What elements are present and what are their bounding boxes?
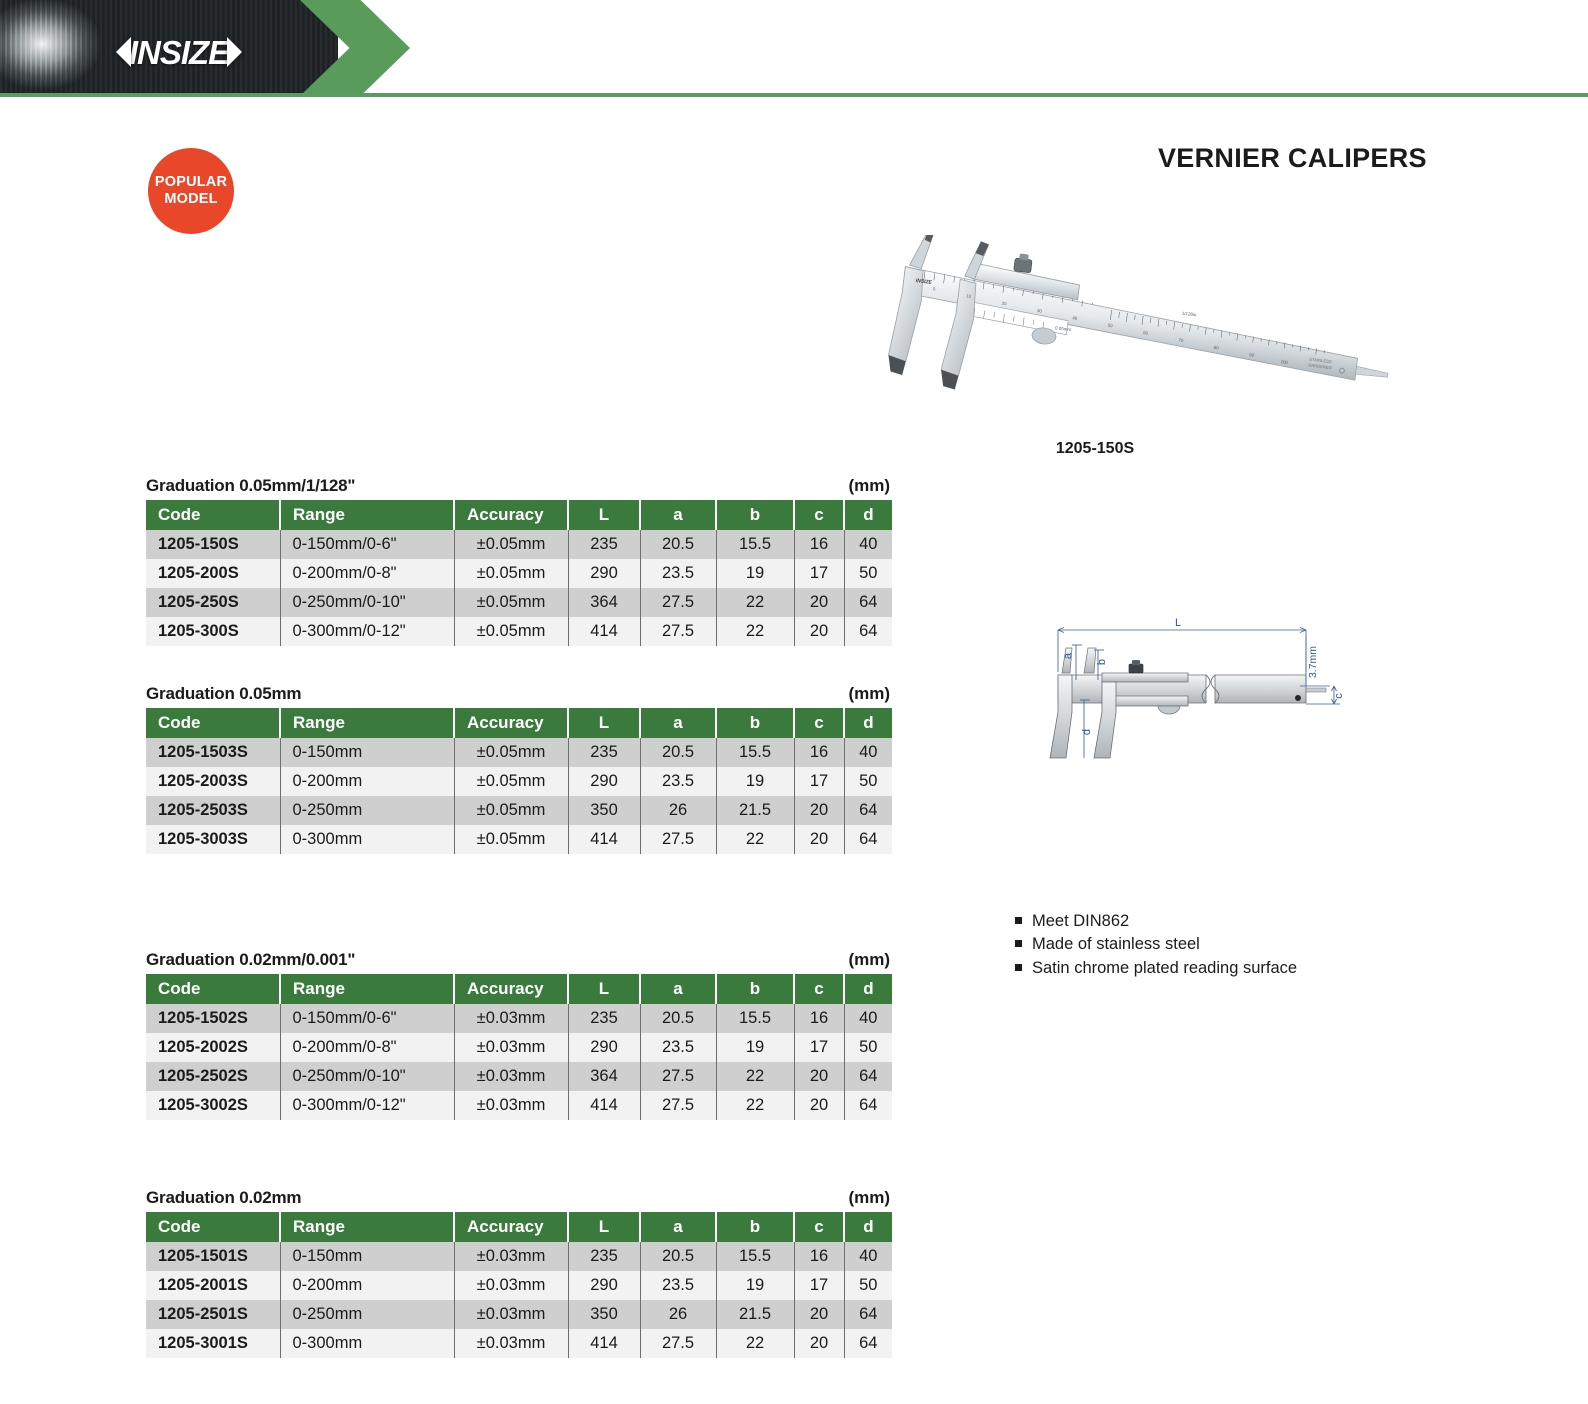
table-caption-row: Graduation 0.02mm (mm) — [146, 1188, 892, 1208]
cell-c: 16 — [794, 1004, 844, 1033]
cell-code: 1205-2502S — [146, 1062, 280, 1091]
cell-l: 414 — [568, 1329, 640, 1358]
cell-b: 15.5 — [716, 1242, 794, 1271]
cell-range: 0-300mm/0-12" — [280, 1091, 454, 1120]
col-header-accuracy: Accuracy — [454, 708, 568, 738]
cell-range: 0-150mm/0-6" — [280, 1004, 454, 1033]
square-bullet-icon — [1015, 940, 1022, 947]
cell-a: 27.5 — [640, 1062, 716, 1091]
cell-accuracy: ±0.03mm — [454, 1300, 568, 1329]
cell-b: 22 — [716, 617, 794, 646]
cell-l: 290 — [568, 1033, 640, 1062]
dim-label-d: d — [1081, 729, 1093, 735]
col-header-b: b — [716, 1212, 794, 1242]
svg-text:100: 100 — [1280, 359, 1288, 365]
cell-accuracy: ±0.05mm — [454, 588, 568, 617]
cell-code: 1205-1501S — [146, 1242, 280, 1271]
cell-code: 1205-150S — [146, 530, 280, 559]
col-header-code: Code — [146, 974, 280, 1004]
table-caption-row: Graduation 0.05mm/1/128" (mm) — [146, 476, 892, 496]
col-header-code: Code — [146, 1212, 280, 1242]
cell-d: 64 — [844, 617, 892, 646]
cell-code: 1205-2501S — [146, 1300, 280, 1329]
table-caption-row: Graduation 0.05mm (mm) — [146, 684, 892, 704]
cell-range: 0-250mm/0-10" — [280, 588, 454, 617]
cell-range: 0-300mm — [280, 1329, 454, 1358]
col-header-d: d — [844, 500, 892, 530]
cell-accuracy: ±0.03mm — [454, 1033, 568, 1062]
cell-range: 0-200mm — [280, 767, 454, 796]
cell-code: 1205-2003S — [146, 767, 280, 796]
cell-c: 20 — [794, 796, 844, 825]
table-row: 1205-3001S 0-300mm ±0.03mm 414 27.5 22 2… — [146, 1329, 892, 1358]
col-header-b: b — [716, 708, 794, 738]
cell-d: 40 — [844, 530, 892, 559]
cell-c: 17 — [794, 1033, 844, 1062]
cell-l: 235 — [568, 1242, 640, 1271]
table-row: 1205-2502S 0-250mm/0-10" ±0.03mm 364 27.… — [146, 1062, 892, 1091]
cell-accuracy: ±0.03mm — [454, 1271, 568, 1300]
cell-l: 350 — [568, 796, 640, 825]
table-unit-label: (mm) — [848, 1188, 890, 1208]
cell-l: 235 — [568, 738, 640, 767]
cell-a: 27.5 — [640, 617, 716, 646]
table-caption: Graduation 0.02mm/0.001" — [146, 950, 355, 970]
table-caption-row: Graduation 0.02mm/0.001" (mm) — [146, 950, 892, 970]
cell-code: 1205-250S — [146, 588, 280, 617]
dimension-diagram: L a b d c 3.7mm — [1010, 600, 1350, 760]
cell-a: 20.5 — [640, 1242, 716, 1271]
feature-list-item: Made of stainless steel — [1015, 933, 1445, 956]
cell-a: 20.5 — [640, 1004, 716, 1033]
page-title: VERNIER CALIPERS — [1158, 143, 1427, 174]
cell-d: 50 — [844, 1271, 892, 1300]
cell-range: 0-150mm — [280, 1242, 454, 1271]
table-header-row: Code Range Accuracy L a b c d — [146, 974, 892, 1004]
cell-d: 50 — [844, 767, 892, 796]
cell-d: 64 — [844, 825, 892, 854]
table-caption: Graduation 0.02mm — [146, 1188, 301, 1208]
cell-d: 64 — [844, 1062, 892, 1091]
cell-l: 290 — [568, 1271, 640, 1300]
table-row: 1205-1502S 0-150mm/0-6" ±0.03mm 235 20.5… — [146, 1004, 892, 1033]
col-header-range: Range — [280, 974, 454, 1004]
table-row: 1205-300S 0-300mm/0-12" ±0.05mm 414 27.5… — [146, 617, 892, 646]
spec-table-block-4: Graduation 0.02mm (mm) Code Range Accura… — [146, 1188, 892, 1358]
col-header-range: Range — [280, 708, 454, 738]
spec-table: Code Range Accuracy L a b c d 1205-1503S… — [146, 708, 892, 854]
cell-a: 23.5 — [640, 1033, 716, 1062]
spec-table-block-3: Graduation 0.02mm/0.001" (mm) Code Range… — [146, 950, 892, 1120]
table-caption: Graduation 0.05mm — [146, 684, 301, 704]
caliper-dimension-diagram-icon: L a b d c 3.7mm — [1010, 600, 1350, 760]
cell-d: 64 — [844, 1091, 892, 1120]
spec-table: Code Range Accuracy L a b c d 1205-1501S… — [146, 1212, 892, 1358]
cell-code: 1205-3001S — [146, 1329, 280, 1358]
square-bullet-icon — [1015, 964, 1022, 971]
cell-c: 17 — [794, 1271, 844, 1300]
cell-code: 1205-2503S — [146, 796, 280, 825]
col-header-a: a — [640, 708, 716, 738]
cell-c: 20 — [794, 825, 844, 854]
cell-code: 1205-3003S — [146, 825, 280, 854]
cell-accuracy: ±0.05mm — [454, 738, 568, 767]
cell-c: 20 — [794, 588, 844, 617]
cell-a: 23.5 — [640, 1271, 716, 1300]
cell-range: 0-300mm — [280, 825, 454, 854]
col-header-code: Code — [146, 500, 280, 530]
cell-accuracy: ±0.03mm — [454, 1242, 568, 1271]
cell-c: 16 — [794, 530, 844, 559]
dim-label-a: a — [1062, 652, 1074, 659]
feature-text: Meet DIN862 — [1032, 910, 1129, 933]
cell-c: 17 — [794, 559, 844, 588]
cell-d: 64 — [844, 588, 892, 617]
cell-accuracy: ±0.05mm — [454, 825, 568, 854]
cell-d: 40 — [844, 1004, 892, 1033]
arrow-left-icon — [116, 37, 131, 67]
col-header-a: a — [640, 500, 716, 530]
cell-range: 0-200mm/0-8" — [280, 559, 454, 588]
cell-a: 20.5 — [640, 530, 716, 559]
table-caption: Graduation 0.05mm/1/128" — [146, 476, 355, 496]
cell-a: 23.5 — [640, 767, 716, 796]
cell-b: 22 — [716, 588, 794, 617]
cell-a: 26 — [640, 1300, 716, 1329]
cell-range: 0-250mm/0-10" — [280, 1062, 454, 1091]
table-row: 1205-3002S 0-300mm/0-12" ±0.03mm 414 27.… — [146, 1091, 892, 1120]
cell-code: 1205-1502S — [146, 1004, 280, 1033]
feature-list-item: Satin chrome plated reading surface — [1015, 957, 1445, 980]
cell-range: 0-250mm — [280, 796, 454, 825]
table-row: 1205-200S 0-200mm/0-8" ±0.05mm 290 23.5 … — [146, 559, 892, 588]
cell-accuracy: ±0.05mm — [454, 767, 568, 796]
cell-b: 19 — [716, 1271, 794, 1300]
table-row: 1205-150S 0-150mm/0-6" ±0.05mm 235 20.5 … — [146, 530, 892, 559]
col-header-d: d — [844, 974, 892, 1004]
cell-d: 50 — [844, 1033, 892, 1062]
col-header-range: Range — [280, 500, 454, 530]
cell-code: 1205-200S — [146, 559, 280, 588]
popular-model-badge: POPULAR MODEL — [148, 148, 234, 234]
cell-accuracy: ±0.05mm — [454, 559, 568, 588]
cell-a: 27.5 — [640, 1091, 716, 1120]
cell-l: 414 — [568, 617, 640, 646]
table-header-row: Code Range Accuracy L a b c d — [146, 708, 892, 738]
cell-code: 1205-300S — [146, 617, 280, 646]
spec-table: Code Range Accuracy L a b c d 1205-150S … — [146, 500, 892, 646]
cell-a: 26 — [640, 796, 716, 825]
table-unit-label: (mm) — [848, 476, 890, 496]
cell-b: 22 — [716, 1062, 794, 1091]
cell-l: 350 — [568, 1300, 640, 1329]
cell-range: 0-250mm — [280, 1300, 454, 1329]
cell-d: 50 — [844, 559, 892, 588]
cell-c: 20 — [794, 617, 844, 646]
col-header-code: Code — [146, 708, 280, 738]
cell-d: 64 — [844, 1329, 892, 1358]
svg-text:1/128in: 1/128in — [1181, 311, 1197, 318]
cell-b: 15.5 — [716, 1004, 794, 1033]
col-header-l: L — [568, 708, 640, 738]
vernier-caliper-photo-icon: INSIZE 1/128in 0.05mm STAINLESS HARDENED… — [860, 235, 1410, 410]
cell-a: 20.5 — [640, 738, 716, 767]
spec-table-block-2: Graduation 0.05mm (mm) Code Range Accura… — [146, 684, 892, 854]
cell-l: 364 — [568, 1062, 640, 1091]
feature-text: Made of stainless steel — [1032, 933, 1200, 956]
col-header-a: a — [640, 1212, 716, 1242]
col-header-l: L — [568, 1212, 640, 1242]
col-header-c: c — [794, 500, 844, 530]
cell-accuracy: ±0.05mm — [454, 617, 568, 646]
cell-range: 0-200mm — [280, 1271, 454, 1300]
cell-b: 21.5 — [716, 1300, 794, 1329]
cell-b: 22 — [716, 825, 794, 854]
cell-code: 1205-1503S — [146, 738, 280, 767]
table-row: 1205-2002S 0-200mm/0-8" ±0.03mm 290 23.5… — [146, 1033, 892, 1062]
cell-c: 16 — [794, 738, 844, 767]
spec-table: Code Range Accuracy L a b c d 1205-1502S… — [146, 974, 892, 1120]
cell-range: 0-150mm — [280, 738, 454, 767]
product-caption: 1205-150S — [970, 440, 1220, 458]
dim-label-b: b — [1096, 659, 1108, 665]
cell-accuracy: ±0.05mm — [454, 796, 568, 825]
dim-label-L: L — [1175, 617, 1181, 629]
feature-list: Meet DIN862 Made of stainless steel Sati… — [1015, 910, 1445, 980]
dim-label-c: c — [1333, 693, 1345, 699]
cell-b: 19 — [716, 767, 794, 796]
cell-code: 1205-3002S — [146, 1091, 280, 1120]
table-unit-label: (mm) — [848, 950, 890, 970]
product-photo: INSIZE 1/128in 0.05mm STAINLESS HARDENED… — [860, 235, 1410, 410]
table-row: 1205-250S 0-250mm/0-10" ±0.05mm 364 27.5… — [146, 588, 892, 617]
cell-b: 15.5 — [716, 738, 794, 767]
feature-text: Satin chrome plated reading surface — [1032, 957, 1297, 980]
table-row: 1205-2001S 0-200mm ±0.03mm 290 23.5 19 1… — [146, 1271, 892, 1300]
insize-logo-text: INSIZE — [129, 36, 229, 69]
cell-b: 15.5 — [716, 530, 794, 559]
popular-model-badge-line2: MODEL — [164, 191, 217, 208]
cell-range: 0-200mm/0-8" — [280, 1033, 454, 1062]
cell-accuracy: ±0.03mm — [454, 1062, 568, 1091]
col-header-c: c — [794, 708, 844, 738]
table-row: 1205-1503S 0-150mm ±0.05mm 235 20.5 15.5… — [146, 738, 892, 767]
cell-l: 235 — [568, 1004, 640, 1033]
popular-model-badge-line1: POPULAR — [155, 174, 227, 191]
cell-b: 22 — [716, 1329, 794, 1358]
table-row: 1205-1501S 0-150mm ±0.03mm 235 20.5 15.5… — [146, 1242, 892, 1271]
cell-accuracy: ±0.03mm — [454, 1091, 568, 1120]
col-header-accuracy: Accuracy — [454, 1212, 568, 1242]
table-header-row: Code Range Accuracy L a b c d — [146, 1212, 892, 1242]
cell-c: 16 — [794, 1242, 844, 1271]
cell-code: 1205-2001S — [146, 1271, 280, 1300]
col-header-l: L — [568, 974, 640, 1004]
table-header-row: Code Range Accuracy L a b c d — [146, 500, 892, 530]
cell-c: 20 — [794, 1300, 844, 1329]
table-row: 1205-2503S 0-250mm ±0.05mm 350 26 21.5 2… — [146, 796, 892, 825]
insize-logo[interactable]: INSIZE — [95, 32, 263, 72]
cell-accuracy: ±0.03mm — [454, 1329, 568, 1358]
cell-d: 40 — [844, 1242, 892, 1271]
col-header-d: d — [844, 708, 892, 738]
col-header-b: b — [716, 500, 794, 530]
cell-b: 19 — [716, 559, 794, 588]
cell-c: 20 — [794, 1091, 844, 1120]
square-bullet-icon — [1015, 917, 1022, 924]
cell-accuracy: ±0.05mm — [454, 530, 568, 559]
col-header-c: c — [794, 974, 844, 1004]
cell-b: 22 — [716, 1091, 794, 1120]
col-header-d: d — [844, 1212, 892, 1242]
cell-d: 40 — [844, 738, 892, 767]
cell-accuracy: ±0.03mm — [454, 1004, 568, 1033]
col-header-accuracy: Accuracy — [454, 500, 568, 530]
cell-l: 290 — [568, 767, 640, 796]
table-unit-label: (mm) — [848, 684, 890, 704]
cell-c: 17 — [794, 767, 844, 796]
spec-table-block-1: Graduation 0.05mm/1/128" (mm) Code Range… — [146, 476, 892, 646]
table-row: 1205-2501S 0-250mm ±0.03mm 350 26 21.5 2… — [146, 1300, 892, 1329]
cell-l: 414 — [568, 1091, 640, 1120]
cell-l: 290 — [568, 559, 640, 588]
cell-l: 364 — [568, 588, 640, 617]
cell-b: 21.5 — [716, 796, 794, 825]
cell-a: 27.5 — [640, 1329, 716, 1358]
cell-range: 0-300mm/0-12" — [280, 617, 454, 646]
cell-a: 27.5 — [640, 825, 716, 854]
cell-range: 0-150mm/0-6" — [280, 530, 454, 559]
col-header-range: Range — [280, 1212, 454, 1242]
feature-list-item: Meet DIN862 — [1015, 910, 1445, 933]
page-header: INSIZE — [0, 0, 1588, 100]
col-header-l: L — [568, 500, 640, 530]
cell-d: 64 — [844, 1300, 892, 1329]
cell-l: 414 — [568, 825, 640, 854]
cell-code: 1205-2002S — [146, 1033, 280, 1062]
cell-c: 20 — [794, 1329, 844, 1358]
col-header-a: a — [640, 974, 716, 1004]
cell-a: 27.5 — [640, 588, 716, 617]
col-header-accuracy: Accuracy — [454, 974, 568, 1004]
cell-c: 20 — [794, 1062, 844, 1091]
cell-d: 64 — [844, 796, 892, 825]
arrow-right-icon — [227, 37, 242, 67]
col-header-c: c — [794, 1212, 844, 1242]
cell-b: 19 — [716, 1033, 794, 1062]
table-row: 1205-3003S 0-300mm ±0.05mm 414 27.5 22 2… — [146, 825, 892, 854]
cell-l: 235 — [568, 530, 640, 559]
cell-a: 23.5 — [640, 559, 716, 588]
dim-label-thickness: 3.7mm — [1307, 646, 1319, 678]
col-header-b: b — [716, 974, 794, 1004]
table-row: 1205-2003S 0-200mm ±0.05mm 290 23.5 19 1… — [146, 767, 892, 796]
header-green-rule — [0, 93, 1588, 97]
